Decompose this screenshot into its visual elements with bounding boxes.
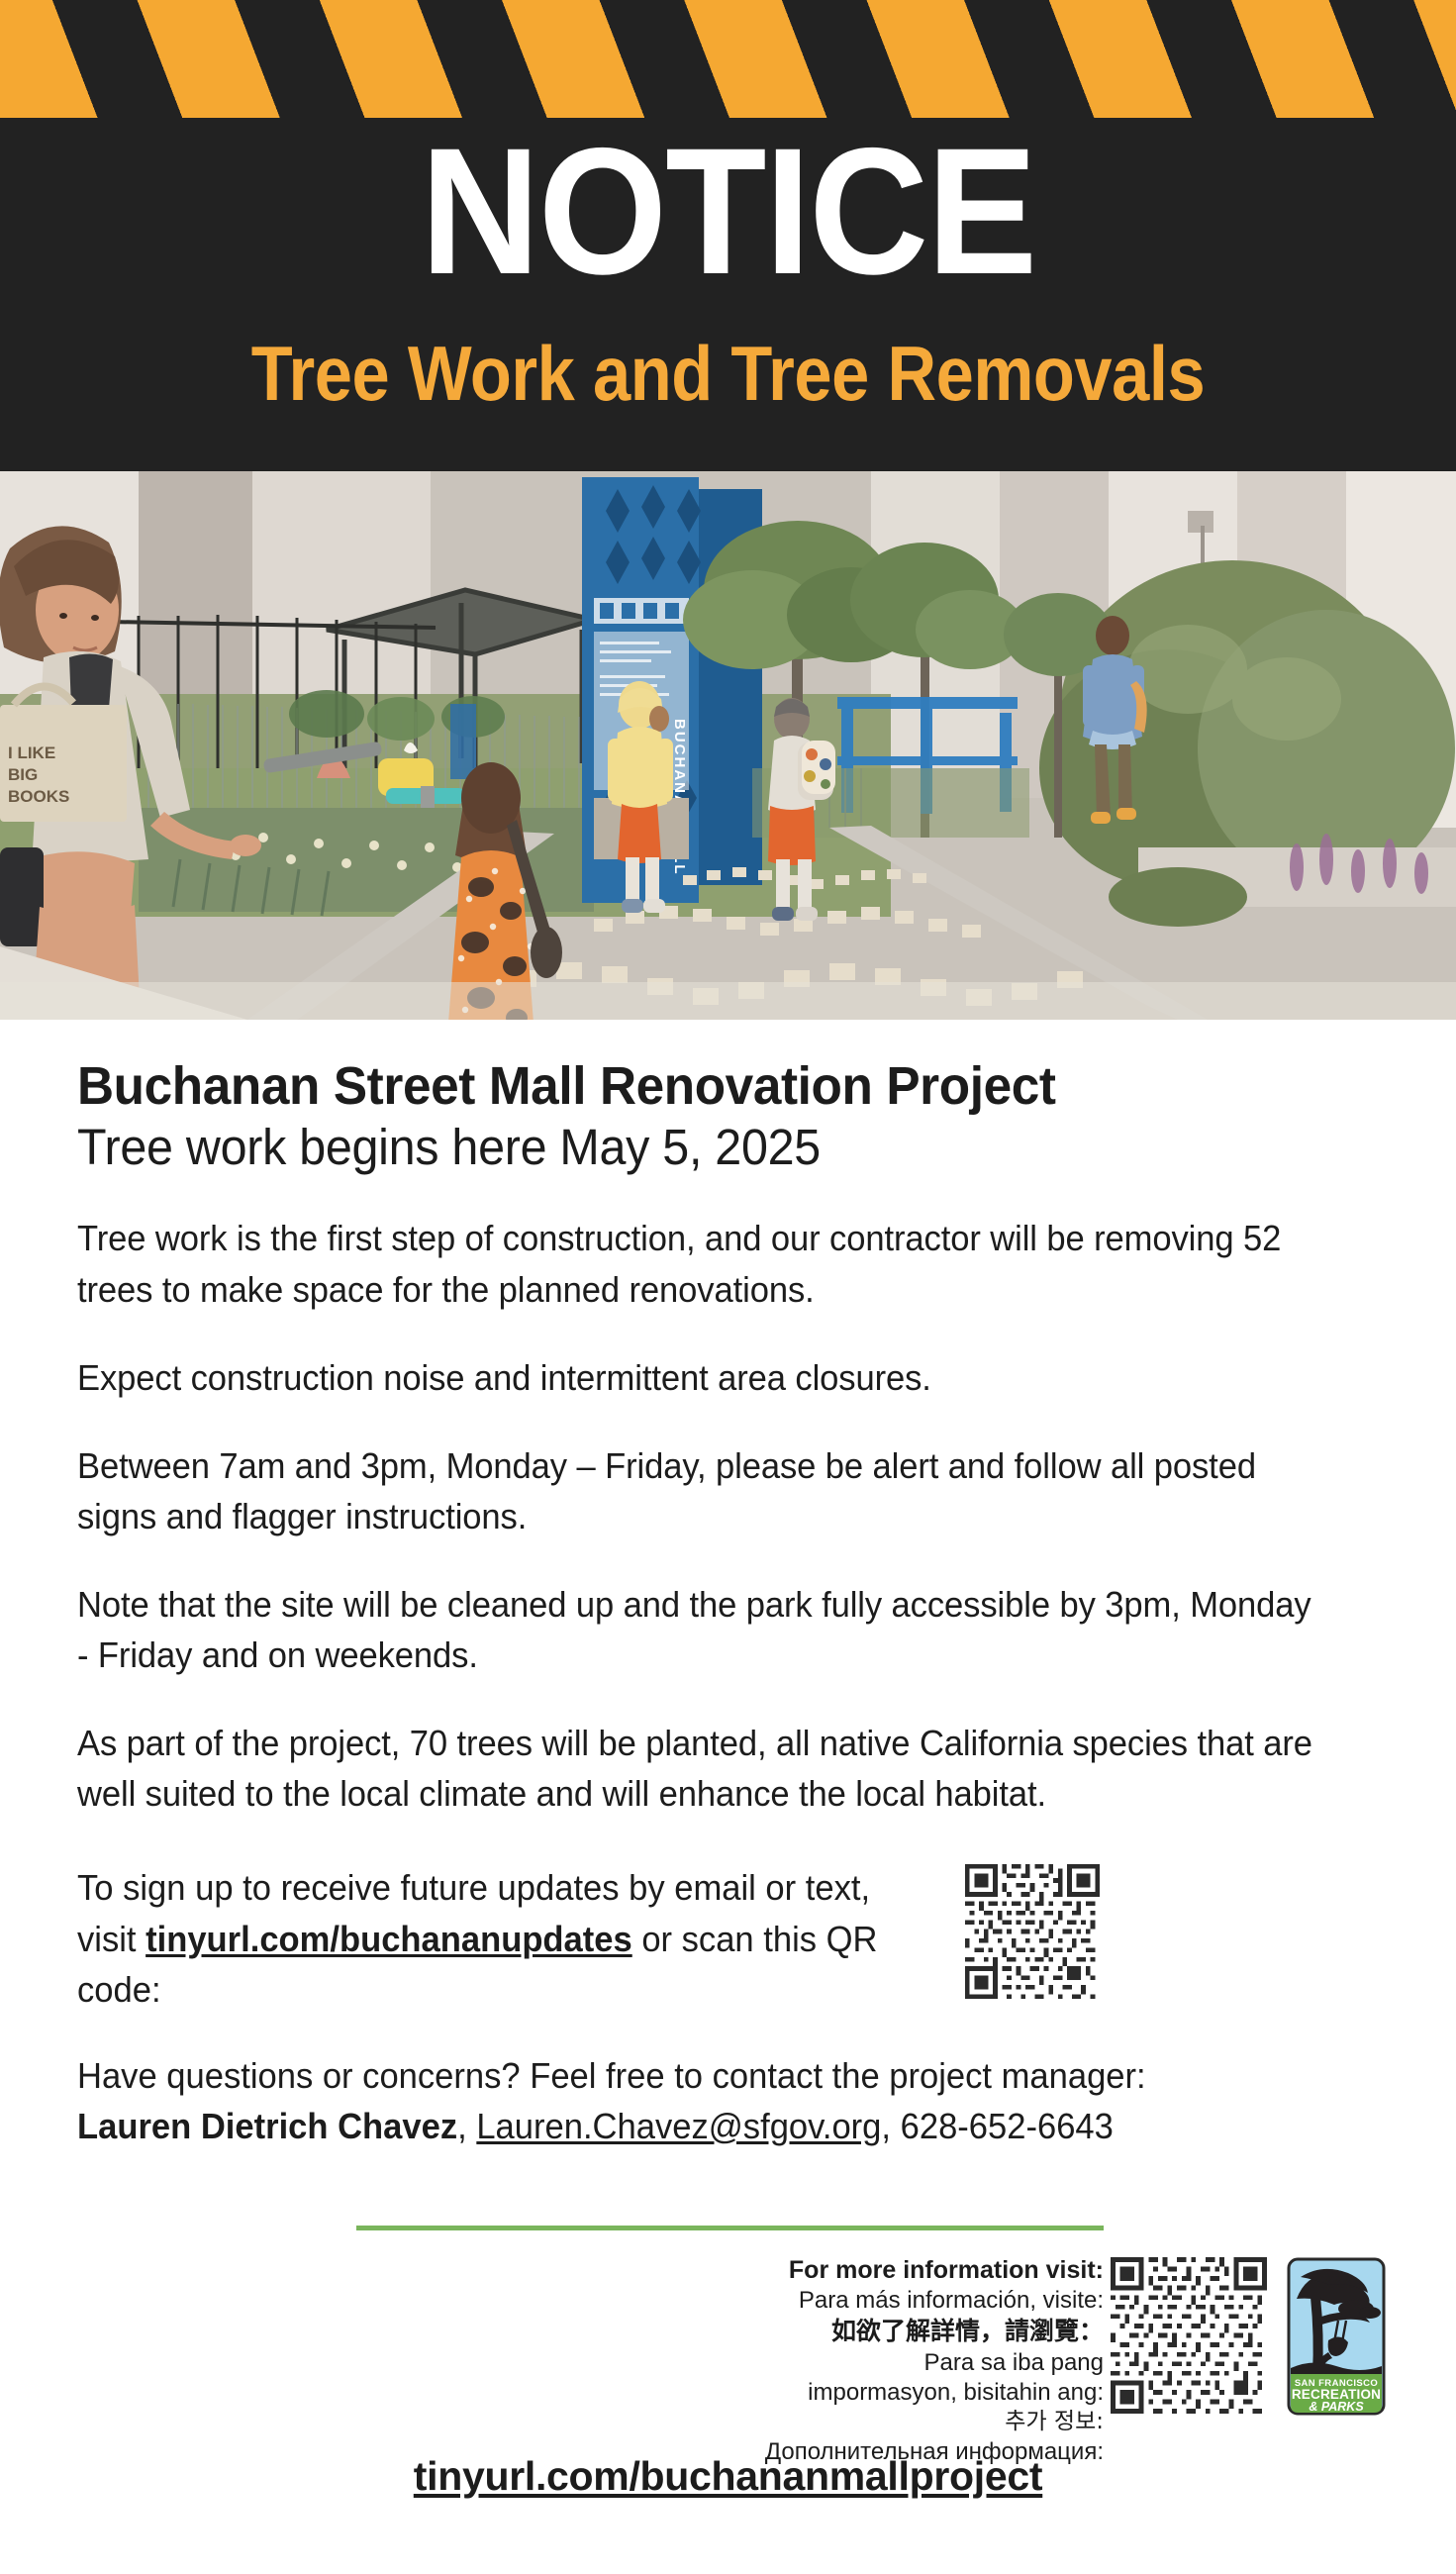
signup-section: To sign up to receive future updates by … (77, 1862, 1394, 2014)
svg-text:BOOKS: BOOKS (8, 787, 69, 806)
contact-sep-1: , (457, 2106, 476, 2146)
more-info-korean: 추가 정보: (693, 2408, 1104, 2436)
paragraph-tree-removal: Tree work is the first step of construct… (77, 1213, 1331, 1314)
page-title: NOTICE (58, 121, 1398, 301)
hazard-stripe-band (0, 0, 1456, 118)
qr-code-updates[interactable] (965, 1864, 1100, 1999)
svg-text:BIG: BIG (8, 765, 38, 784)
logo-line-and-parks: & PARKS (1309, 2400, 1364, 2414)
more-information-languages: For more information visit: Para más inf… (693, 2255, 1104, 2467)
more-info-english: For more information visit: (693, 2255, 1104, 2286)
more-info-tagalog-line2: impormasyon, bisitahin ang: (693, 2378, 1104, 2408)
more-info-tagalog-line1: Para sa iba pang (693, 2348, 1104, 2378)
contact-lead: Have questions or concerns? Feel free to… (77, 2050, 1341, 2101)
more-info-chinese: 如欲了解詳情，請瀏覽： (693, 2316, 1104, 2348)
notice-header: NOTICE Tree Work and Tree Removals (0, 0, 1456, 471)
contact-name: Lauren Dietrich Chavez (77, 2106, 457, 2146)
paragraph-new-plantings: As part of the project, 70 trees will be… (77, 1718, 1331, 1819)
signup-link[interactable]: tinyurl.com/buchananupdates (146, 1919, 632, 1959)
notice-body: Buchanan Street Mall Renovation Project … (77, 1057, 1394, 2151)
contact-block: Have questions or concerns? Feel free to… (77, 2050, 1341, 2151)
hero-rendering: BUCHANAN MALL (0, 471, 1456, 1020)
page-subtitle: Tree Work and Tree Removals (87, 335, 1368, 412)
signup-text: To sign up to receive future updates by … (77, 1862, 932, 2014)
project-title: Buchanan Street Mall Renovation Project (77, 1057, 1328, 1115)
contact-details: Lauren Dietrich Chavez, Lauren.Chavez@sf… (77, 2101, 1341, 2151)
contact-email[interactable]: Lauren.Chavez@sfgov.org (476, 2106, 881, 2146)
more-info-spanish: Para más información, visite: (693, 2286, 1104, 2316)
contact-phone[interactable]: 628-652-6643 (901, 2106, 1114, 2146)
paragraph-site-cleanup: Note that the site will be cleaned up an… (77, 1579, 1331, 1680)
paragraph-noise-closures: Expect construction noise and intermitte… (77, 1352, 1331, 1403)
project-subtitle: Tree work begins here May 5, 2025 (77, 1119, 1328, 1175)
paragraph-work-hours: Between 7am and 3pm, Monday – Friday, pl… (77, 1440, 1331, 1541)
project-url-link[interactable]: tinyurl.com/buchananmallproject (0, 2453, 1456, 2500)
park-rendering-illustration: BUCHANAN MALL (0, 471, 1456, 1020)
svg-text:I LIKE: I LIKE (8, 743, 55, 762)
contact-sep-2: , (881, 2106, 900, 2146)
green-divider (356, 2226, 1104, 2230)
sf-rec-parks-logo: SAN FRANCISCO RECREATION & PARKS (1287, 2257, 1386, 2416)
footer: For more information visit: Para más inf… (0, 2245, 1456, 2443)
qr-code-project[interactable] (1111, 2257, 1267, 2414)
